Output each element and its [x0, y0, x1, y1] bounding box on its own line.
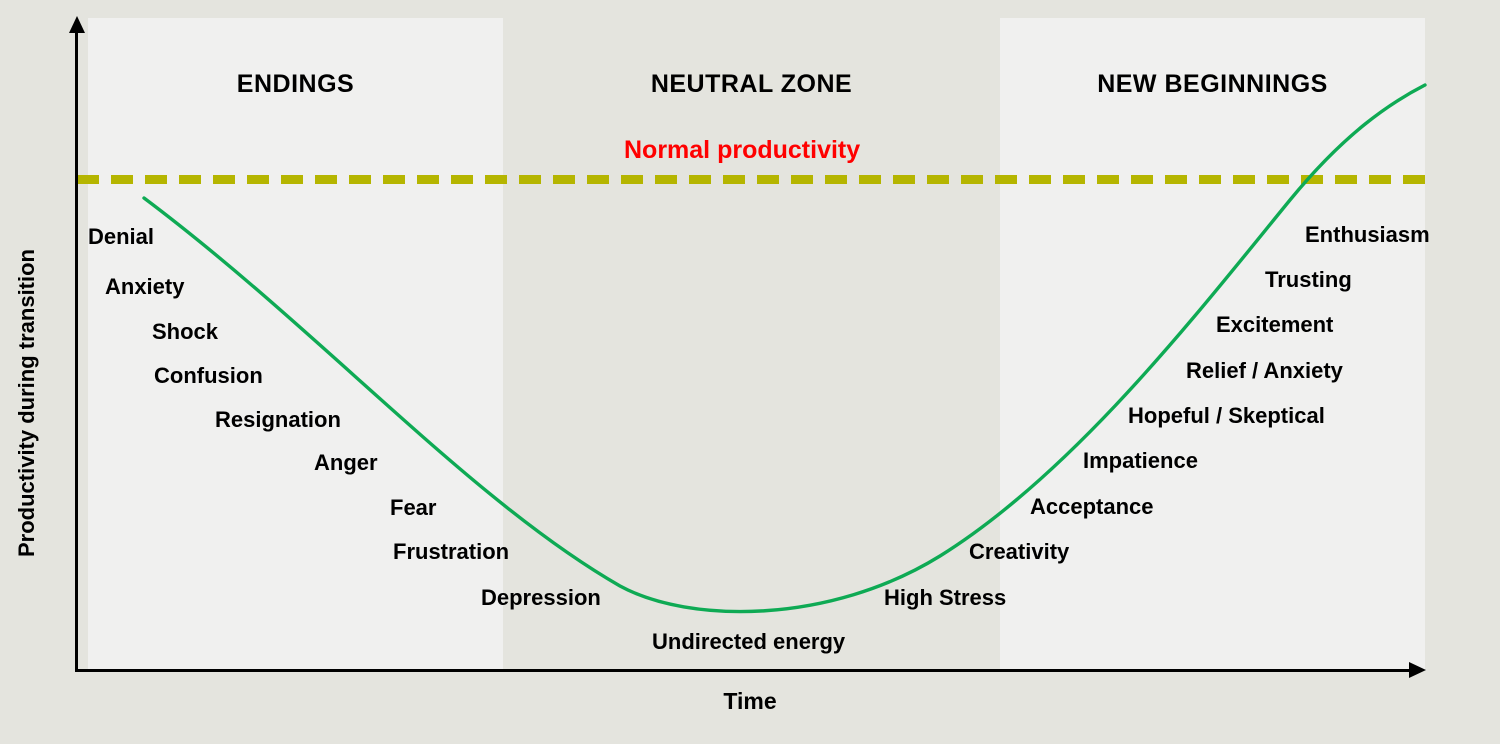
- stage-label: Depression: [481, 587, 601, 609]
- stage-label: Creativity: [969, 541, 1069, 563]
- stage-label: Relief / Anxiety: [1186, 360, 1343, 382]
- stage-label: Hopeful / Skeptical: [1128, 405, 1325, 427]
- stage-label: Anxiety: [105, 276, 184, 298]
- zone-title-endings: ENDINGS: [88, 70, 503, 99]
- x-axis-label: Time: [0, 688, 1500, 715]
- normal-productivity-label: Normal productivity: [624, 136, 860, 165]
- zone-endings: ENDINGS: [88, 18, 503, 670]
- y-axis-arrow-icon: [69, 16, 85, 33]
- stage-label: Confusion: [154, 365, 263, 387]
- stage-label: Trusting: [1265, 269, 1352, 291]
- x-axis-arrow-icon: [1409, 662, 1426, 678]
- stage-label: Frustration: [393, 541, 509, 563]
- normal-productivity-line: [77, 175, 1425, 184]
- zone-neutral: NEUTRAL ZONE: [503, 18, 1000, 670]
- zone-title-new-beginnings: NEW BEGINNINGS: [1000, 70, 1425, 99]
- stage-label: Denial: [88, 226, 154, 248]
- stage-label: Resignation: [215, 409, 341, 431]
- stage-label: Enthusiasm: [1305, 224, 1430, 246]
- stage-label: Anger: [314, 452, 378, 474]
- stage-label: Fear: [390, 497, 436, 519]
- stage-label: Acceptance: [1030, 496, 1154, 518]
- zone-new-beginnings: NEW BEGINNINGS: [1000, 18, 1425, 670]
- stage-label: High Stress: [884, 587, 1006, 609]
- zone-title-neutral: NEUTRAL ZONE: [503, 70, 1000, 99]
- y-axis-line: [75, 30, 78, 672]
- y-axis-label: Productivity during transition: [14, 193, 40, 613]
- stage-label: Excitement: [1216, 314, 1333, 336]
- stage-label: Shock: [152, 321, 218, 343]
- x-axis-line: [75, 669, 1415, 672]
- stage-label: Undirected energy: [652, 631, 845, 653]
- stage-label: Impatience: [1083, 450, 1198, 472]
- transition-curve-diagram: ENDINGS NEUTRAL ZONE NEW BEGINNINGS Norm…: [0, 0, 1500, 744]
